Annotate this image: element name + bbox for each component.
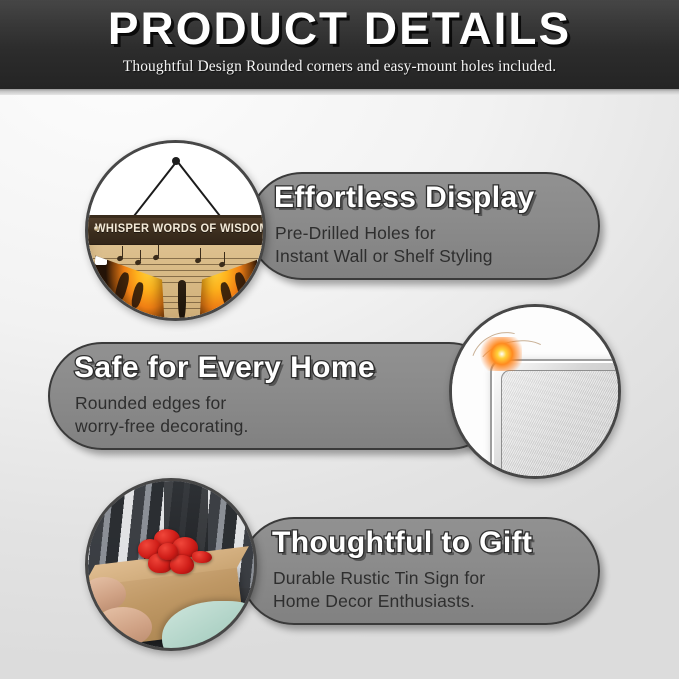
music-note-stem [122,246,123,257]
wing-stripe [219,281,234,308]
sign-rivet-icon [94,314,99,319]
feature-image-hanging-tin-sign: WHISPER WORDS OF WISDOM [85,140,266,321]
music-note-stem [200,248,201,259]
butterfly-wing-left [91,252,165,321]
feature-title-3: Thoughtful to Gift [272,527,532,559]
hanging-nail-icon [172,157,180,165]
header-banner: PRODUCT DETAILS Thoughtful Design Rounde… [0,0,679,89]
sign-rivet-icon [265,314,266,319]
gift-illustration [88,481,254,648]
rounded-corner-illustration [452,307,618,476]
feature-body-3: Durable Rustic Tin Sign for Home Decor E… [273,567,485,613]
receiver-hand [94,607,152,647]
feature-panel-safe-for-every-home: Safe for Every Home Rounded edges for wo… [48,342,503,450]
feature-title-1: Effortless Display [274,182,535,214]
gift-bow [136,529,212,579]
tin-sign-plate: WHISPER WORDS OF WISDOM [85,215,266,321]
butterfly-wing-right [199,252,266,321]
feature-panel-thoughtful-to-gift: Thoughtful to Gift Durable Rustic Tin Si… [240,517,600,625]
wing-green-band [199,312,266,321]
wing-stripe [233,271,251,303]
music-note-stem [140,250,141,261]
feature-image-rounded-corner [449,304,621,479]
sign-slogan-text: WHISPER WORDS OF WISDOM [91,223,266,235]
music-note-stem [224,252,225,263]
safety-spark-highlight [480,337,522,371]
bow-ribbon-tail [192,551,212,563]
feature-body-2: Rounded edges for worry-free decorating. [75,392,249,438]
bow-center [158,543,178,560]
wing-stripe [130,281,145,308]
butterfly-body [178,280,186,321]
wing-green-band [91,312,165,321]
sign-rivet-icon [265,226,266,231]
sign-rivet-icon [94,226,99,231]
feature-title-2: Safe for Every Home [74,352,375,384]
header-divider-strip [0,89,679,95]
tin-sign-illustration: WHISPER WORDS OF WISDOM [88,143,263,318]
music-note-stem [158,245,159,256]
feature-image-gift-handoff [85,478,257,651]
product-details-infographic: PRODUCT DETAILS Thoughtful Design Rounde… [0,0,679,679]
wing-stripe [113,271,131,303]
feature-body-1: Pre-Drilled Holes for Instant Wall or Sh… [275,222,493,268]
header-subtitle: Thoughtful Design Rounded corners and ea… [0,58,679,76]
page-title: PRODUCT DETAILS [0,6,679,52]
feature-panel-effortless-display: Effortless Display Pre-Drilled Holes for… [248,172,600,280]
